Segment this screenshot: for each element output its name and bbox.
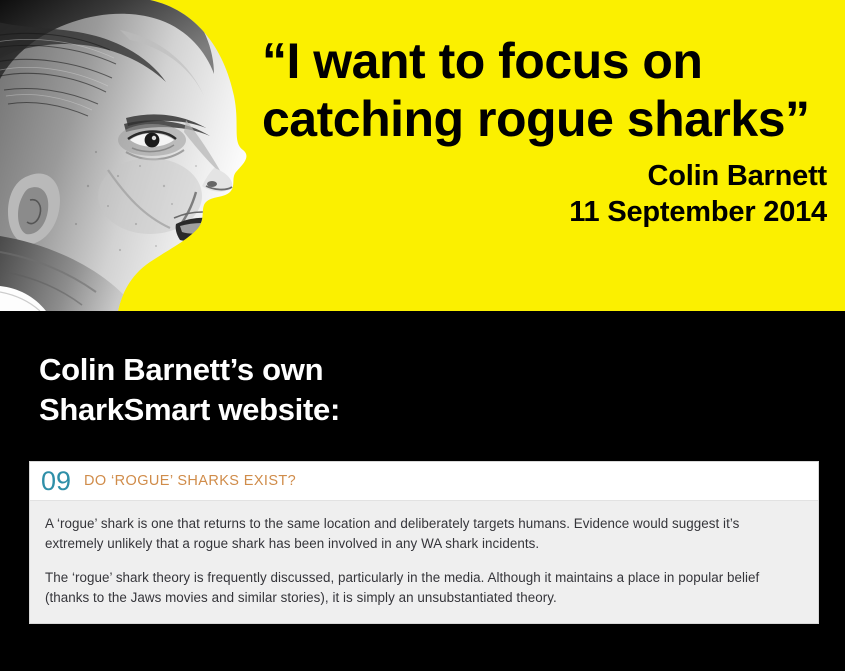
quote-line-1: “I want to focus on — [262, 32, 827, 90]
quote-attribution: Colin Barnett 11 September 2014 — [262, 158, 827, 230]
faq-card-screenshot: 09 DO ‘ROGUE’ SHARKS EXIST? A ‘rogue’ sh… — [30, 462, 818, 623]
poster-graphic: “I want to focus on catching rogue shark… — [0, 0, 845, 671]
attribution-date: 11 September 2014 — [262, 194, 827, 230]
faq-card-body: A ‘rogue’ shark is one that returns to t… — [30, 501, 818, 623]
faq-paragraph-1: A ‘rogue’ shark is one that returns to t… — [45, 514, 798, 553]
headline-line-2: SharkSmart website: — [39, 390, 639, 430]
yellow-banner: “I want to focus on catching rogue shark… — [0, 0, 845, 311]
colin-barnett-portrait-photo — [0, 0, 268, 311]
faq-paragraph-2: The ‘rogue’ shark theory is frequently d… — [45, 568, 798, 607]
faq-question-title: DO ‘ROGUE’ SHARKS EXIST? — [84, 473, 296, 489]
faq-card-header: 09 DO ‘ROGUE’ SHARKS EXIST? — [30, 462, 818, 501]
quote-line-2: catching rogue sharks” — [262, 90, 827, 148]
attribution-name: Colin Barnett — [262, 158, 827, 194]
faq-number: 09 — [41, 468, 71, 495]
black-section: Colin Barnett’s own SharkSmart website: … — [0, 311, 845, 671]
headline-line-1: Colin Barnett’s own — [39, 350, 639, 390]
pull-quote: “I want to focus on catching rogue shark… — [262, 32, 827, 148]
section-headline: Colin Barnett’s own SharkSmart website: — [39, 350, 639, 430]
